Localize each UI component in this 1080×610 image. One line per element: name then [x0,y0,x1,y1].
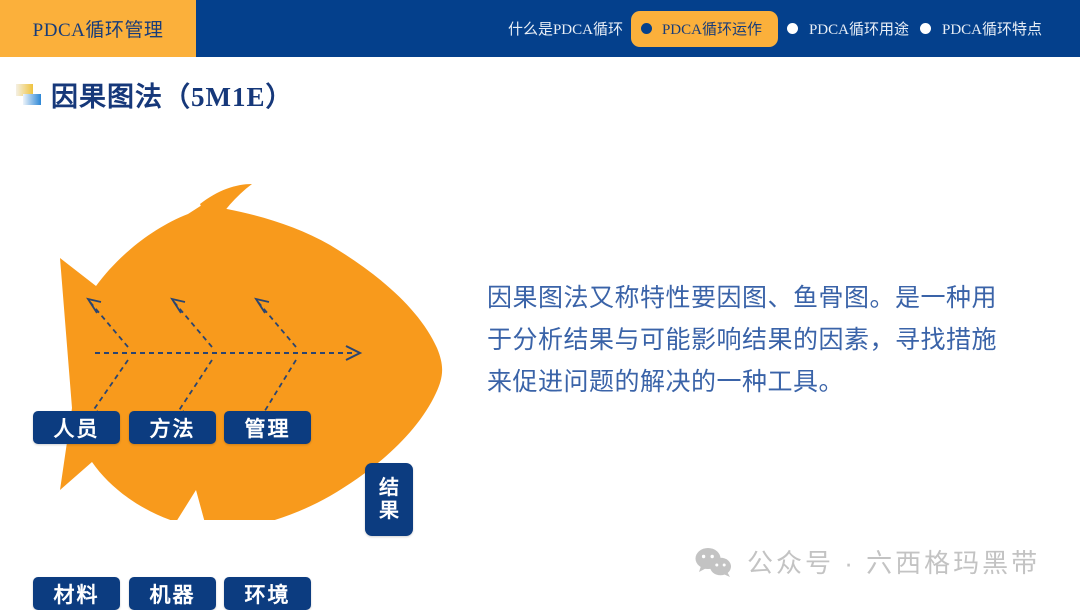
nav-item-label: PDCA循环用途 [807,18,911,39]
watermark-text: 公众号 · 六西格玛黑带 [747,543,1040,580]
factor-box-method[interactable]: 方法 [129,411,216,444]
brand-block: PDCA循环管理 [0,0,196,57]
page-title: 因果图法（5M1E） [51,75,294,114]
result-box[interactable]: 结 果 [365,463,413,536]
nav-item-label: PDCA循环运作 [660,18,764,39]
gradient-square-icon [16,81,42,107]
nav-item-label: 什么是PDCA循环 [506,18,625,39]
nav-item-pdca-features[interactable]: PDCA循环特点 [911,18,1044,39]
watermark: 公众号 · 六西格玛黑带 [694,543,1040,580]
factor-box-environment[interactable]: 环境 [224,577,311,610]
brand-title: PDCA循环管理 [33,15,164,42]
fishbone-diagram: 人员 方法 管理 材料 机器 环境 结 果 [0,150,470,520]
bullet-dot-icon [787,23,798,34]
factor-box-machine[interactable]: 机器 [129,577,216,610]
bullet-dot-icon [641,23,652,34]
slide-title-row: 因果图法（5M1E） [16,74,294,114]
factor-box-material[interactable]: 材料 [33,577,120,610]
nav-item-pdca-operation[interactable]: PDCA循环运作 [631,11,778,47]
nav-item-pdca-usage[interactable]: PDCA循环用途 [778,18,911,39]
result-char-2: 果 [379,500,399,523]
nav-item-what-is-pdca[interactable]: 什么是PDCA循环 [506,18,625,39]
top-header-bar: PDCA循环管理 什么是PDCA循环 PDCA循环运作 PDCA循环用途 PDC… [0,0,1080,57]
factor-box-management[interactable]: 管理 [224,411,311,444]
nav-item-label: PDCA循环特点 [940,18,1044,39]
wechat-icon [694,546,734,578]
factor-box-personnel[interactable]: 人员 [33,411,120,444]
result-char-1: 结 [379,477,399,500]
bullet-dot-icon [920,23,931,34]
description-paragraph: 因果图法又称特性要因图、鱼骨图。是一种用于分析结果与可能影响结果的因素，寻找措施… [487,278,1017,404]
top-navigation: 什么是PDCA循环 PDCA循环运作 PDCA循环用途 PDCA循环特点 [196,0,1080,57]
